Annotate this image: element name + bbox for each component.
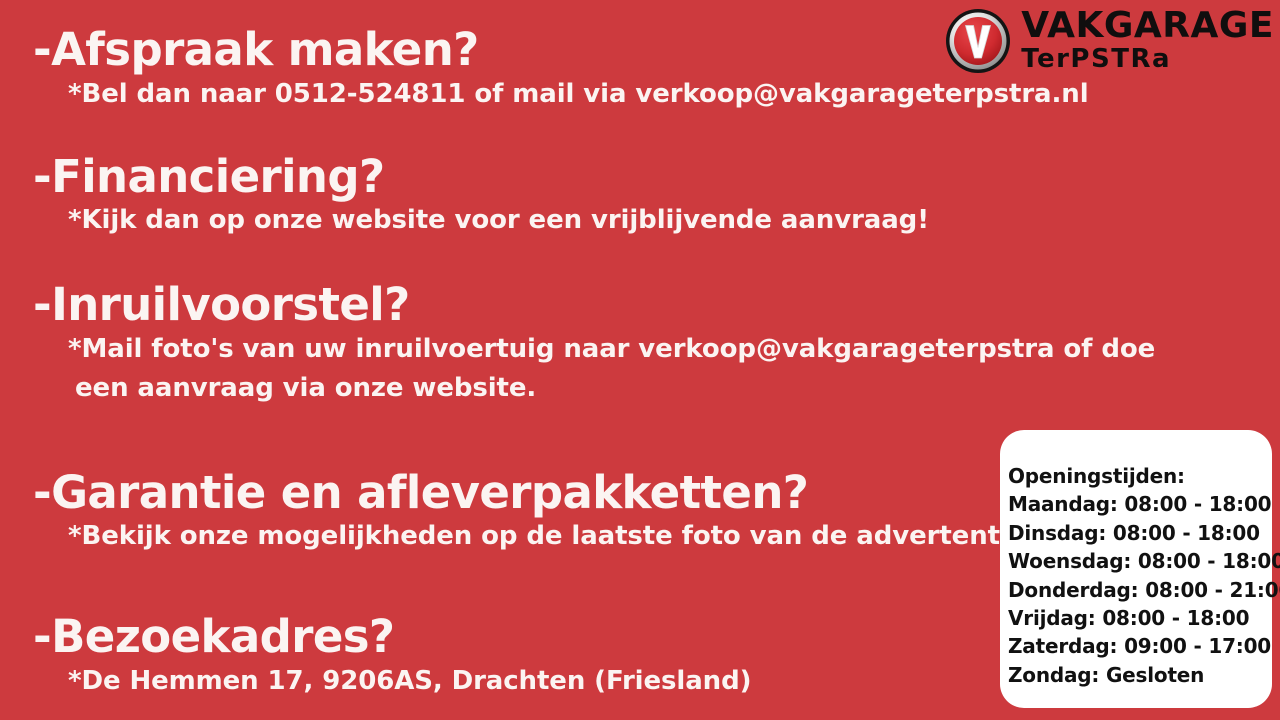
vakgarage-logo: VAKGARAGE TerPSTRa	[945, 8, 1274, 74]
opening-hours-title: Openingstijden:	[1008, 462, 1272, 490]
section-heading: -Garantie en afleverpakketten?	[33, 469, 993, 517]
section-line: *Bel dan naar 0512-524811 of mail via ve…	[68, 76, 993, 113]
section-bezoekadres: -Bezoekadres? *De Hemmen 17, 9206AS, Dra…	[33, 613, 993, 700]
section-heading: -Afspraak maken?	[33, 26, 993, 74]
section-line-continued: een aanvraag via onze website.	[75, 370, 993, 407]
section-line: *De Hemmen 17, 9206AS, Drachten (Friesla…	[68, 663, 993, 700]
section-line: *Mail foto's van uw inruilvoertuig naar …	[68, 331, 993, 368]
logo-main-text: VAKGARAGE	[1021, 8, 1274, 44]
opening-hours-row: Woensdag: 08:00 - 18:00	[1008, 547, 1272, 575]
section-line: *Kijk dan op onze website voor een vrijb…	[68, 202, 993, 239]
section-garantie: -Garantie en afleverpakketten? *Bekijk o…	[33, 469, 993, 556]
section-heading: -Bezoekadres?	[33, 613, 993, 661]
section-financiering: -Financiering? *Kijk dan op onze website…	[33, 153, 993, 240]
opening-hours-row: Zaterdag: 09:00 - 17:00	[1008, 632, 1272, 660]
section-afspraak: -Afspraak maken? *Bel dan naar 0512-5248…	[33, 26, 993, 113]
logo-wordmark: VAKGARAGE TerPSTRa	[1021, 8, 1274, 73]
opening-hours-row: Vrijdag: 08:00 - 18:00	[1008, 604, 1272, 632]
section-heading: -Inruilvoorstel?	[33, 281, 993, 329]
opening-hours-row: Maandag: 08:00 - 18:00	[1008, 490, 1272, 518]
poster-content: -Afspraak maken? *Bel dan naar 0512-5248…	[33, 26, 993, 700]
promo-poster: VAKGARAGE TerPSTRa -Afspraak maken? *Bel…	[0, 0, 1280, 720]
opening-hours-row: Dinsdag: 08:00 - 18:00	[1008, 519, 1272, 547]
opening-hours-row: Zondag: Gesloten	[1008, 661, 1272, 689]
section-inruilvoorstel: -Inruilvoorstel? *Mail foto's van uw inr…	[33, 281, 993, 407]
section-heading: -Financiering?	[33, 153, 993, 201]
opening-hours-card: Openingstijden: Maandag: 08:00 - 18:00 D…	[1000, 430, 1272, 708]
logo-sub-text: TerPSTRa	[1021, 46, 1171, 73]
section-line: *Bekijk onze mogelijkheden op de laatste…	[68, 518, 993, 555]
spacer	[33, 439, 993, 469]
opening-hours-row: Donderdag: 08:00 - 21:00	[1008, 576, 1272, 604]
